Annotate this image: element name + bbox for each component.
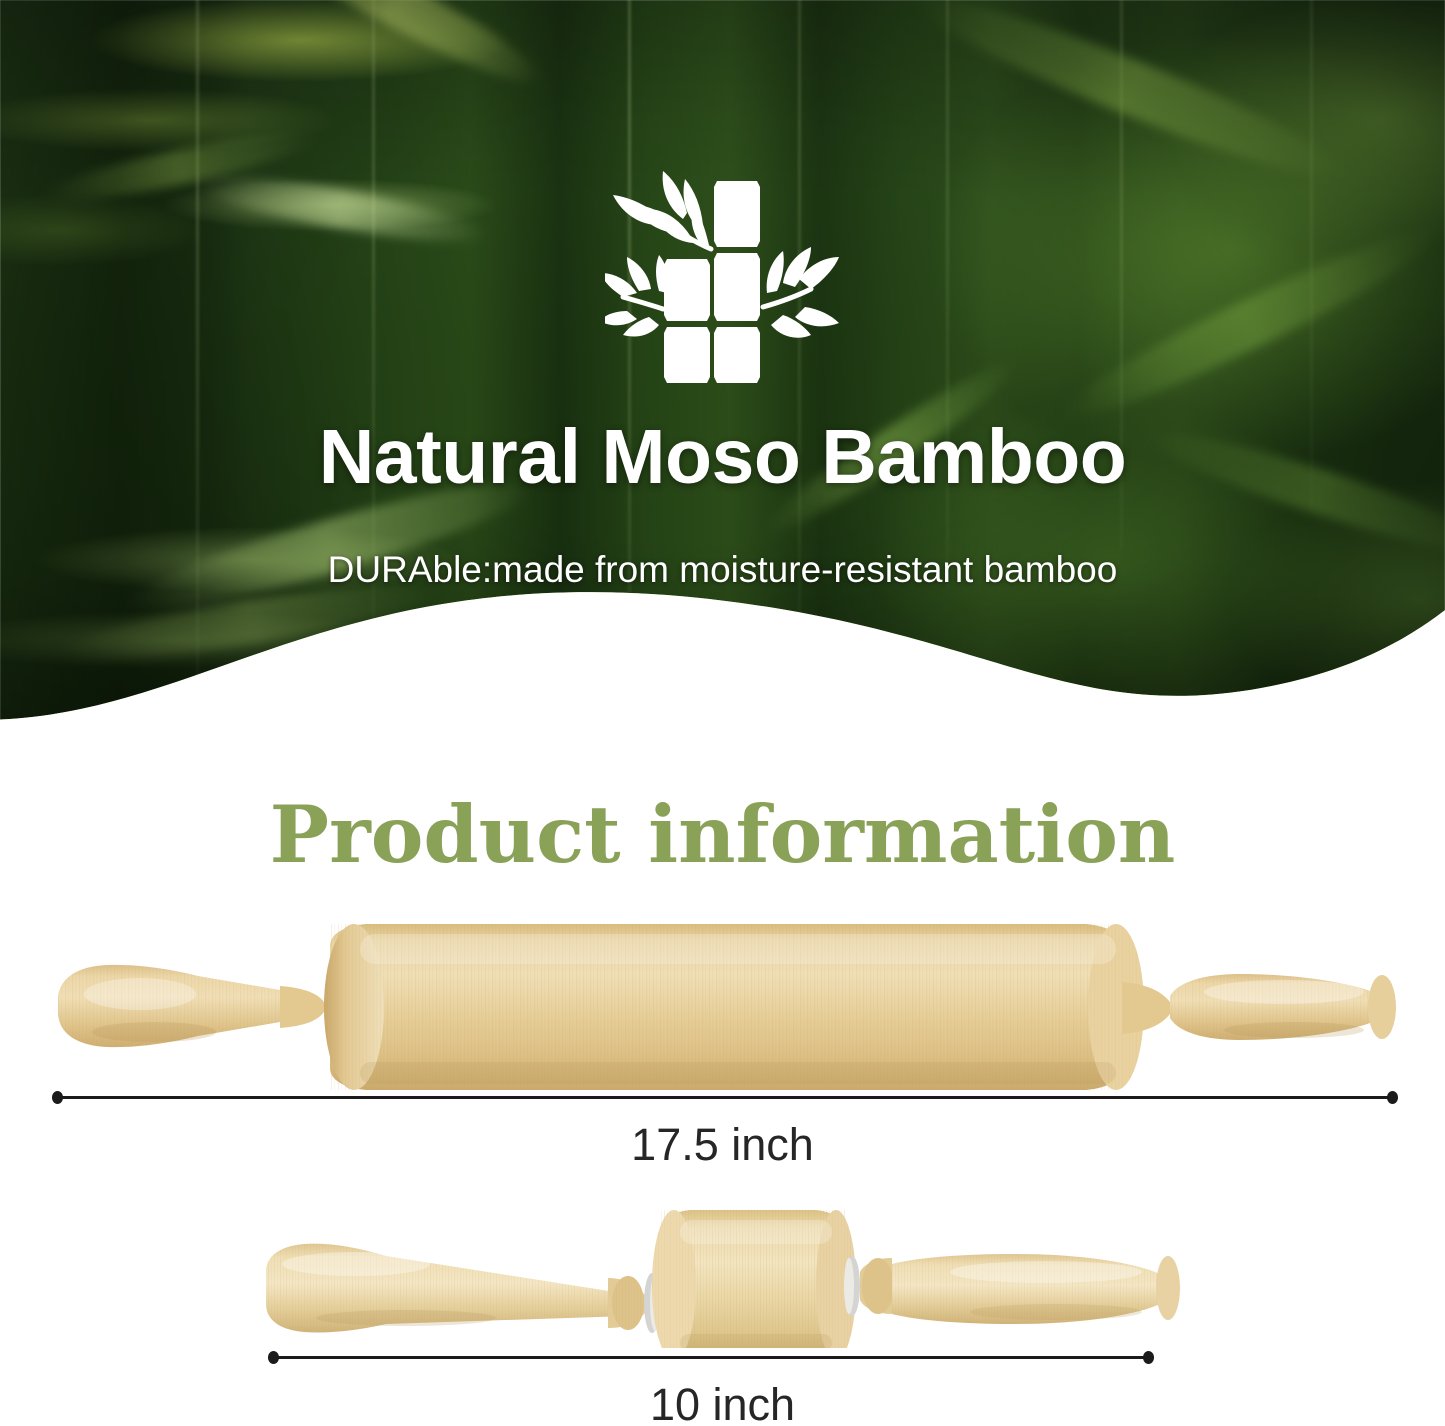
large-dimension-line (52, 1090, 1398, 1104)
hero-title: Natural Moso Bamboo (0, 417, 1445, 498)
small-dimension-label: 10 inch (0, 1382, 1445, 1426)
page-title: Product information (0, 795, 1445, 874)
small-rolling-pin-image (256, 1198, 1186, 1348)
dimension-endpoint-left (268, 1351, 279, 1364)
hero-vignette (0, 0, 1445, 790)
large-dimension-label: 17.5 inch (0, 1122, 1445, 1167)
dimension-endpoint-right (1143, 1351, 1154, 1364)
dimension-endpoint-left (52, 1091, 63, 1104)
product-infographic: Natural Moso Bamboo DURAble:made from mo… (0, 0, 1445, 1426)
dimension-endpoint-right (1387, 1091, 1398, 1104)
hero-subtitle: DURAble:made from moisture-resistant bam… (0, 548, 1445, 592)
dimension-bar (52, 1096, 1398, 1099)
large-rolling-pin-image (44, 916, 1402, 1096)
dimension-bar (268, 1356, 1154, 1359)
small-dimension-line (268, 1350, 1154, 1364)
hero-banner: Natural Moso Bamboo DURAble:made from mo… (0, 0, 1445, 790)
bamboo-logo (605, 163, 841, 395)
